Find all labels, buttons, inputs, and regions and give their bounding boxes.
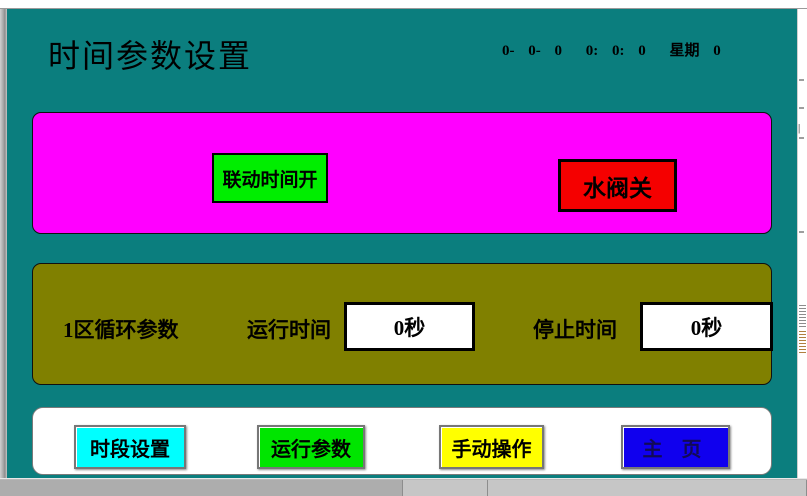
sliver-hatch-tan bbox=[799, 331, 806, 353]
taskbar-segment-right[interactable] bbox=[488, 480, 807, 496]
sliver-tick bbox=[799, 107, 804, 109]
navigation-bar: 时段设置 运行参数 手动操作 主 页 bbox=[32, 407, 772, 475]
weekday-label: 星期 bbox=[670, 39, 700, 60]
clock-day: 0 bbox=[555, 43, 563, 60]
nav-button-home[interactable]: 主 页 bbox=[621, 425, 730, 469]
nav-button-time-schedule[interactable]: 时段设置 bbox=[74, 425, 186, 469]
clock-month: 0 bbox=[528, 43, 536, 60]
clock-second: 0 bbox=[638, 43, 646, 60]
water-valve-toggle-button[interactable]: 水阀关 bbox=[558, 159, 677, 212]
status-panel: 联动时间开 水阀关 bbox=[32, 112, 772, 234]
screen-root: 时间参数设置 0- 0- 0 0: 0: 0 星期 0 联动时间开 水阀关 1区… bbox=[0, 0, 807, 495]
left-gray-rail bbox=[0, 9, 7, 478]
linkage-time-toggle-button[interactable]: 联动时间开 bbox=[212, 153, 328, 203]
run-time-label: 运行时间 bbox=[247, 314, 331, 344]
clock-minute: 0 bbox=[612, 43, 620, 60]
clock-date-sep-2: - bbox=[536, 43, 541, 60]
taskbar-segment-left[interactable] bbox=[0, 480, 403, 496]
sliver-glyph: | bbox=[798, 122, 800, 134]
clock-year: 0 bbox=[502, 43, 510, 60]
clock-hour: 0 bbox=[586, 43, 594, 60]
clock-display: 0- 0- 0 0: 0: 0 星期 0 bbox=[502, 39, 721, 60]
weekday-value: 0 bbox=[713, 43, 721, 60]
nav-button-run-params[interactable]: 运行参数 bbox=[257, 425, 365, 469]
sliver-tick bbox=[799, 137, 804, 139]
stop-time-label: 停止时间 bbox=[533, 314, 617, 344]
run-time-input[interactable]: 0秒 bbox=[344, 302, 475, 351]
page-title: 时间参数设置 bbox=[48, 31, 252, 77]
sliver-tick bbox=[799, 231, 804, 233]
nav-button-manual-operation[interactable]: 手动操作 bbox=[439, 425, 544, 469]
hmi-canvas: 时间参数设置 0- 0- 0 0: 0: 0 星期 0 联动时间开 水阀关 1区… bbox=[7, 9, 797, 478]
taskbar-segment-middle[interactable] bbox=[403, 480, 488, 496]
top-white-strip bbox=[0, 0, 807, 9]
sliver-hatch-gray bbox=[799, 305, 806, 327]
zone-params-label: 1区循环参数 bbox=[63, 314, 179, 344]
os-taskbar[interactable] bbox=[0, 478, 807, 495]
clock-time-sep-1: : bbox=[593, 43, 598, 60]
clock-date-sep-1: - bbox=[510, 43, 515, 60]
cycle-params-panel: 1区循环参数 运行时间 0秒 停止时间 0秒 bbox=[32, 263, 772, 385]
background-window-sliver: | bbox=[797, 9, 807, 478]
stop-time-input[interactable]: 0秒 bbox=[640, 302, 773, 351]
clock-time-sep-2: : bbox=[620, 43, 625, 60]
sliver-tick bbox=[799, 79, 804, 81]
